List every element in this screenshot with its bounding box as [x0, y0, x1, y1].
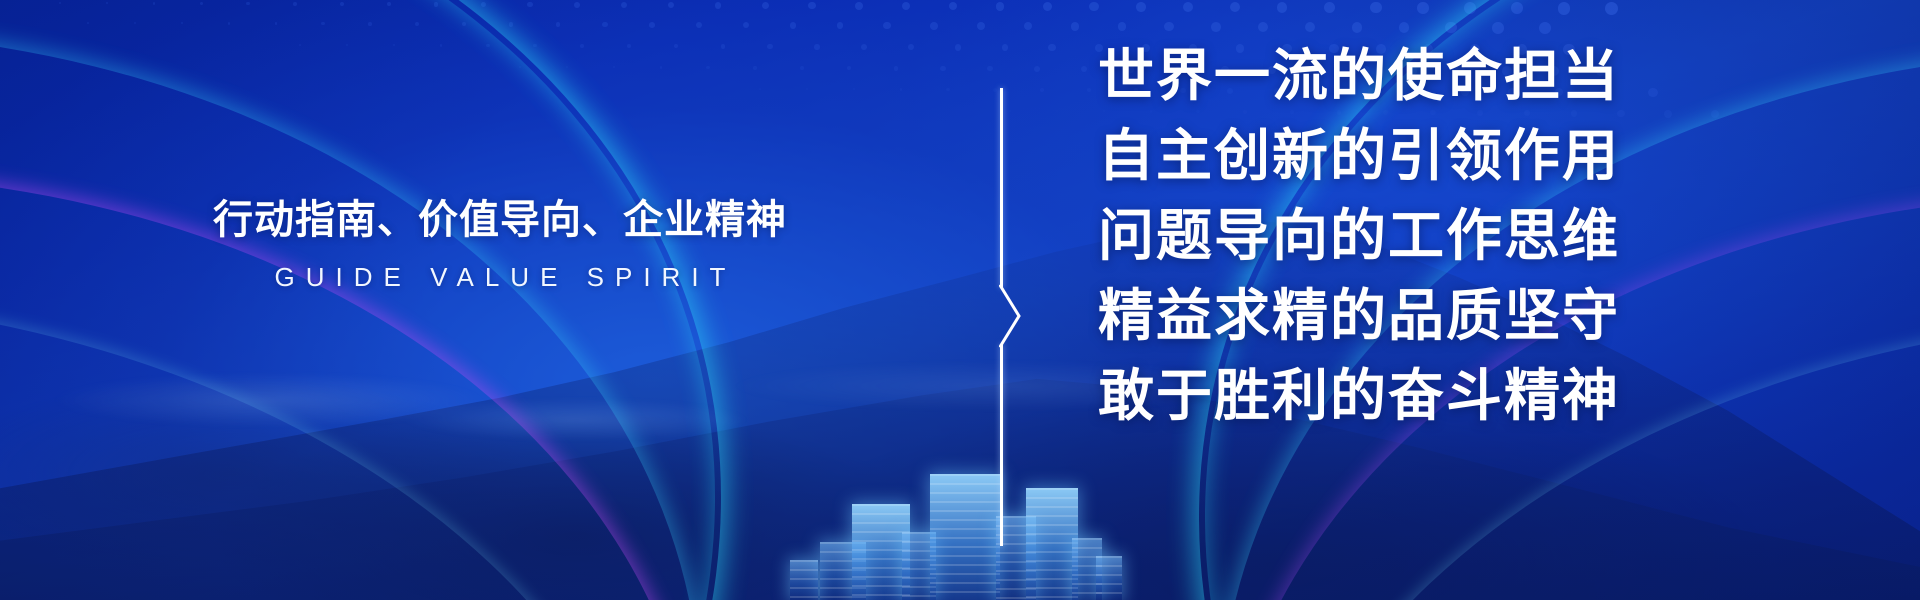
divider-segment-bottom — [1000, 344, 1003, 546]
right-headline-line: 敢于胜利的奋斗精神 — [1098, 368, 1620, 424]
right-headline-line: 世界一流的使命担当 — [1098, 48, 1620, 104]
vertical-divider — [1000, 88, 1022, 546]
left-headline-cn: 行动指南、价值导向、企业精神 — [150, 196, 850, 244]
left-subtitle-en: GUIDE VALUE SPIRIT — [150, 262, 850, 293]
chevron-right-icon — [999, 284, 1023, 348]
left-text-block: 行动指南、价值导向、企业精神 GUIDE VALUE SPIRIT — [150, 196, 850, 293]
right-text-block: 世界一流的使命担当自主创新的引领作用问题导向的工作思维精益求精的品质坚守敢于胜利… — [1098, 48, 1620, 424]
right-headline-line: 问题导向的工作思维 — [1098, 208, 1620, 264]
right-headline-line: 自主创新的引领作用 — [1098, 128, 1620, 184]
divider-segment-top — [1000, 88, 1003, 288]
right-headline-line: 精益求精的品质坚守 — [1098, 288, 1620, 344]
corporate-culture-banner: 行动指南、价值导向、企业精神 GUIDE VALUE SPIRIT 世界一流的使… — [0, 0, 1920, 600]
cloud-band — [0, 330, 1920, 470]
